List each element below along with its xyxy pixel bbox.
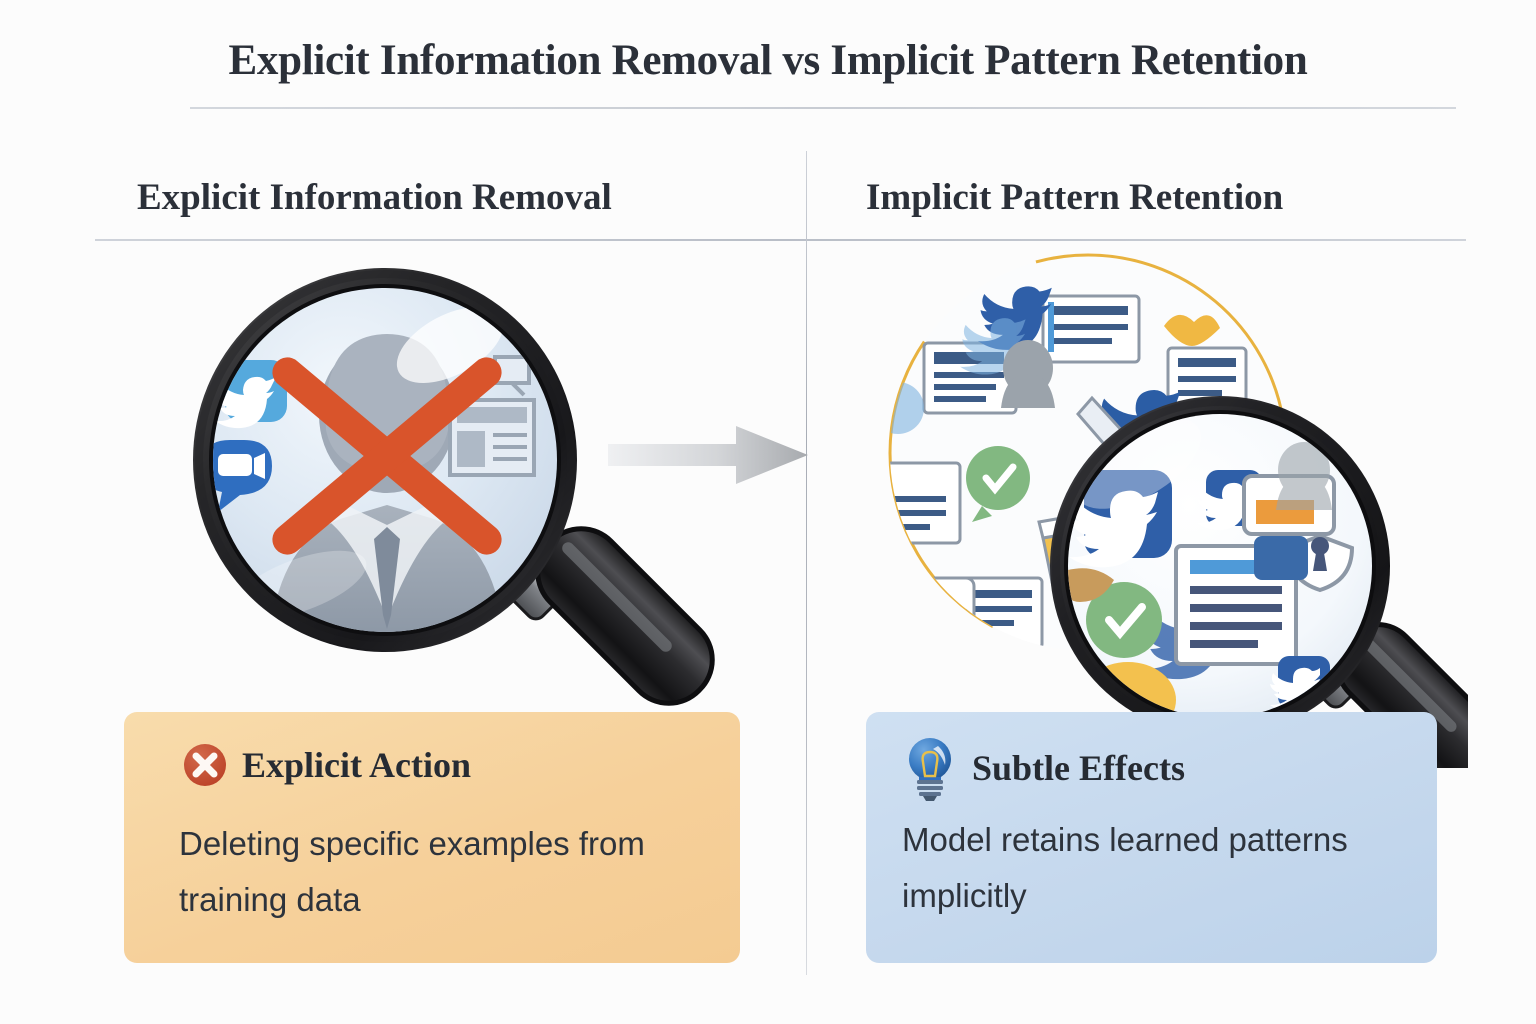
illustration-implicit-retention bbox=[838, 248, 1468, 768]
card-header-explicit: Explicit Action bbox=[182, 742, 471, 788]
illustration-explicit-removal bbox=[150, 255, 770, 755]
column-header-implicit: Implicit Pattern Retention bbox=[866, 176, 1283, 219]
card-icon bbox=[878, 578, 974, 640]
card-header-implicit: Subtle Effects bbox=[902, 734, 1185, 802]
title-divider bbox=[190, 107, 1456, 109]
page-title: Explicit Information Removal vs Implicit… bbox=[0, 36, 1536, 85]
twitter-icon bbox=[922, 638, 1004, 714]
column-header-explicit: Explicit Information Removal bbox=[137, 176, 612, 219]
header-divider bbox=[95, 239, 1466, 241]
error-x-circle-icon bbox=[182, 742, 228, 788]
column-divider bbox=[806, 151, 807, 975]
right-arrow bbox=[608, 424, 808, 486]
card-explicit-action: Explicit Action Deleting specific exampl… bbox=[124, 712, 740, 963]
card-title-explicit: Explicit Action bbox=[242, 744, 471, 786]
speech-bubble-icon bbox=[872, 382, 924, 434]
card-body-explicit: Deleting specific examples from training… bbox=[179, 816, 699, 928]
card-body-implicit: Model retains learned patterns implicitl… bbox=[902, 812, 1422, 924]
infographic-canvas: Explicit Information Removal vs Implicit… bbox=[0, 0, 1536, 1024]
card-subtle-effects: Subtle Effects Model retains learned pat… bbox=[866, 712, 1437, 963]
card-title-implicit: Subtle Effects bbox=[972, 747, 1185, 789]
lightbulb-icon bbox=[902, 734, 958, 802]
person-silhouette-icon bbox=[1001, 340, 1055, 408]
